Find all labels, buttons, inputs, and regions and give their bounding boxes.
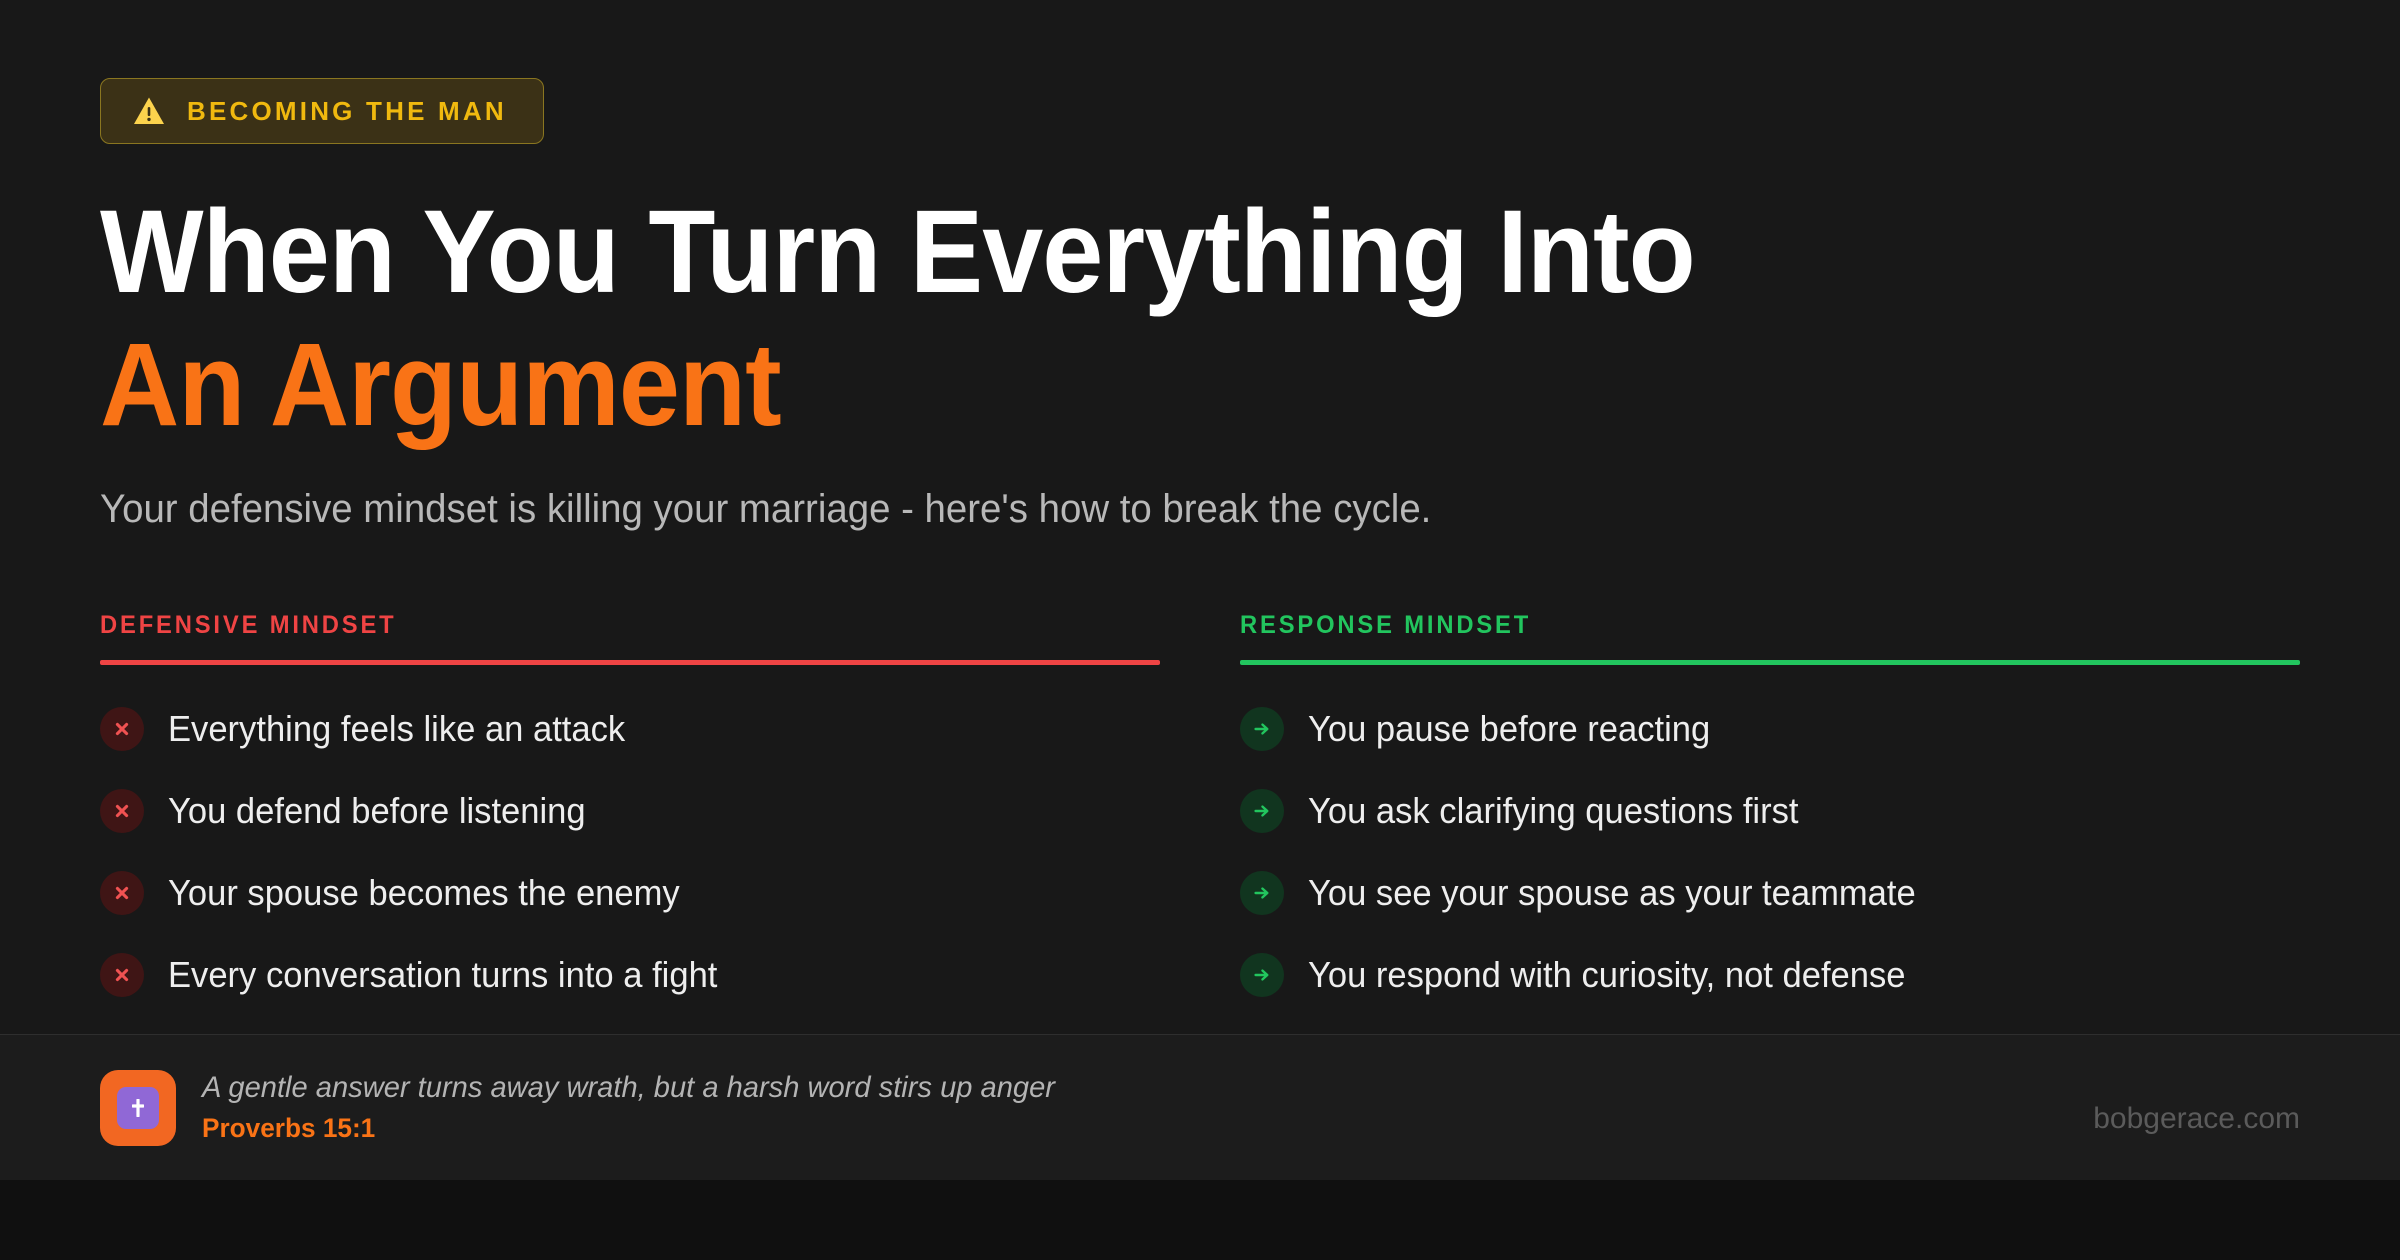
- list-item: You respond with curiosity, not defense: [1240, 953, 2300, 997]
- arrow-right-circle-icon: [1240, 871, 1284, 915]
- x-circle-icon: [100, 789, 144, 833]
- list-item-label: You pause before reacting: [1308, 707, 1710, 750]
- column-heading-defensive: DEFENSIVE MINDSET: [100, 613, 1107, 638]
- column-divider-defensive: [100, 660, 1160, 665]
- scripture-text: A gentle answer turns away wrath, but a …: [202, 1071, 1081, 1144]
- column-heading-response: RESPONSE MINDSET: [1240, 613, 2247, 638]
- response-mindset-list: You pause before reacting You ask clarif…: [1240, 707, 2300, 997]
- slide-canvas: BECOMING THE MAN When You Turn Everythin…: [0, 0, 2400, 1260]
- list-item-label: Everything feels like an attack: [168, 707, 625, 750]
- scripture-block: A gentle answer turns away wrath, but a …: [100, 1070, 1081, 1146]
- page-title: When You Turn Everything Into An Argumen…: [100, 186, 1774, 453]
- list-item-label: You respond with curiosity, not defense: [1308, 953, 1905, 996]
- arrow-right-circle-icon: [1240, 789, 1284, 833]
- footer-bar: A gentle answer turns away wrath, but a …: [0, 1034, 2400, 1180]
- category-badge[interactable]: BECOMING THE MAN: [100, 78, 544, 144]
- page-title-part1: When You Turn Everything Into: [100, 186, 1695, 318]
- list-item: Every conversation turns into a fight: [100, 953, 1160, 997]
- list-item: You see your spouse as your teammate: [1240, 871, 2300, 915]
- comparison-columns: DEFENSIVE MINDSET Everything feels like …: [100, 613, 2300, 997]
- list-item-label: You ask clarifying questions first: [1308, 789, 1799, 832]
- column-response-mindset: RESPONSE MINDSET You pause before reacti…: [1240, 613, 2300, 997]
- list-item: Everything feels like an attack: [100, 707, 1160, 751]
- list-item: You defend before listening: [100, 789, 1160, 833]
- page-subtitle: Your defensive mindset is killing your m…: [100, 483, 2212, 535]
- site-url: bobgerace.com: [2093, 1082, 2300, 1134]
- column-divider-response: [1240, 660, 2300, 665]
- x-circle-icon: [100, 707, 144, 751]
- page-title-accent: An Argument: [100, 319, 781, 451]
- list-item: You pause before reacting: [1240, 707, 2300, 751]
- x-circle-icon: [100, 953, 144, 997]
- cross-app-icon: [100, 1070, 176, 1146]
- category-badge-label: BECOMING THE MAN: [187, 98, 507, 124]
- list-item-label: Every conversation turns into a fight: [168, 953, 717, 996]
- defensive-mindset-list: Everything feels like an attack You defe…: [100, 707, 1160, 997]
- arrow-right-circle-icon: [1240, 707, 1284, 751]
- verse-quote: A gentle answer turns away wrath, but a …: [202, 1071, 1055, 1106]
- warning-triangle-icon: [133, 96, 165, 126]
- list-item-label: You defend before listening: [168, 789, 586, 832]
- bottom-bar: [0, 1180, 2400, 1260]
- list-item: You ask clarifying questions first: [1240, 789, 2300, 833]
- slide-content: BECOMING THE MAN When You Turn Everythin…: [0, 0, 2400, 997]
- arrow-right-circle-icon: [1240, 953, 1284, 997]
- list-item-label: You see your spouse as your teammate: [1308, 871, 1916, 914]
- column-defensive-mindset: DEFENSIVE MINDSET Everything feels like …: [100, 613, 1160, 997]
- list-item-label: Your spouse becomes the enemy: [168, 871, 680, 914]
- list-item: Your spouse becomes the enemy: [100, 871, 1160, 915]
- x-circle-icon: [100, 871, 144, 915]
- verse-reference: Proverbs 15:1: [202, 1114, 1055, 1144]
- cross-icon: [117, 1087, 159, 1129]
